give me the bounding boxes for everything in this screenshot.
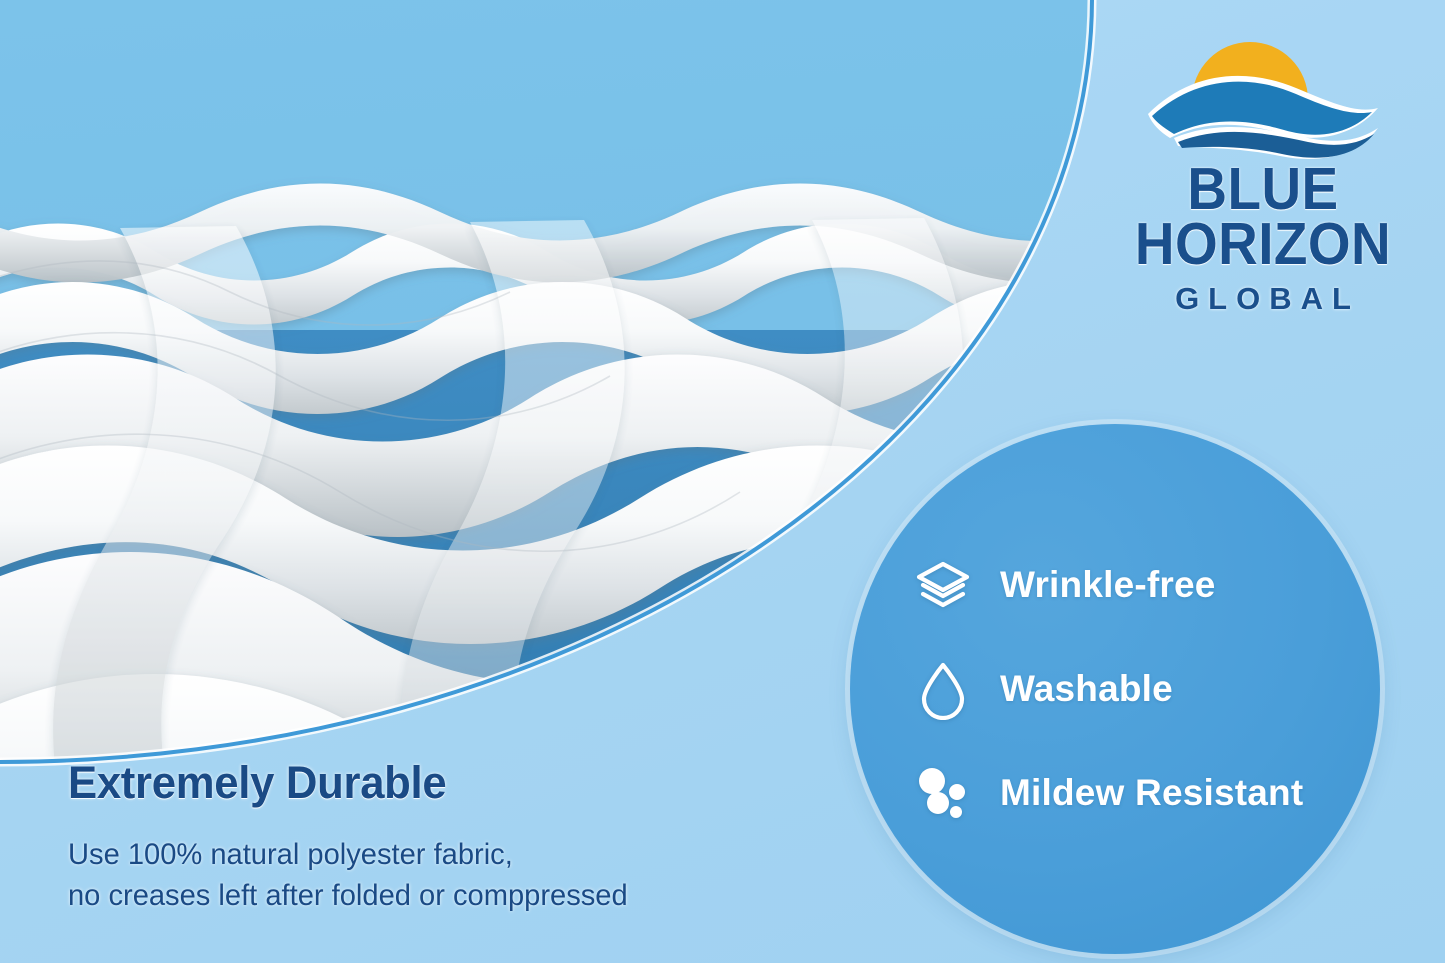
subcopy-line-1: Use 100% natural polyester fabric,: [68, 835, 805, 876]
water-drop-icon: [912, 658, 974, 720]
subcopy-line-2: no creases left after folded or comppres…: [68, 876, 805, 917]
feature-row-washable: Washable: [912, 658, 1380, 720]
feature-badge-circle: Wrinkle-free Washable Mildew Resistant: [850, 424, 1380, 954]
copy-block: Extremely Durable Use 100% natural polye…: [68, 757, 828, 917]
sun-over-waves-logo-mark: [1144, 22, 1382, 162]
logo-word-line1: BLUE: [1124, 162, 1403, 217]
layers-icon: [912, 554, 974, 616]
headline: Extremely Durable: [68, 757, 805, 809]
feature-label: Mildew Resistant: [1000, 772, 1303, 814]
feature-label: Wrinkle-free: [1000, 564, 1216, 606]
feature-row-wrinkle-free: Wrinkle-free: [912, 554, 1380, 616]
subcopy: Use 100% natural polyester fabric, no cr…: [68, 835, 805, 917]
logo-word-line2: HORIZON: [1124, 217, 1403, 272]
feature-label: Washable: [1000, 668, 1173, 710]
brand-logo: BLUE HORIZON GLOBAL: [1113, 22, 1413, 317]
product-feature-banner: BLUE HORIZON GLOBAL Wrinkle-free Washabl…: [0, 0, 1445, 963]
logo-tagline: GLOBAL: [1113, 281, 1413, 317]
feature-row-mildew-resistant: Mildew Resistant: [912, 762, 1380, 824]
bubbles-icon: [912, 762, 974, 824]
